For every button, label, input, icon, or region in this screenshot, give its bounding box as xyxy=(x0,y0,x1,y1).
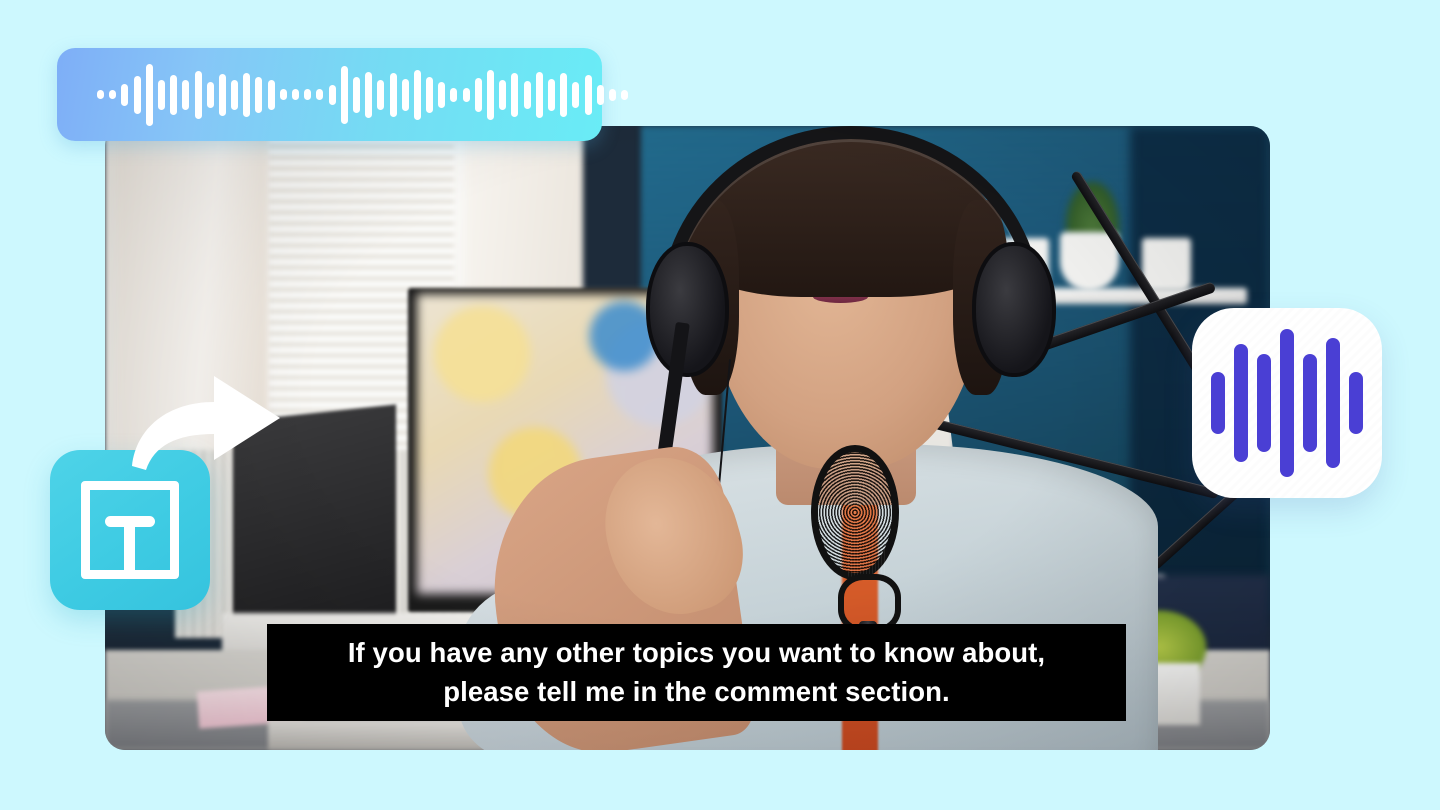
voice-wave-bar-33 xyxy=(499,80,506,110)
headphone-cup-left xyxy=(646,242,730,377)
voice-wave-bar-29 xyxy=(450,88,457,102)
voice-wave-bar-11 xyxy=(231,80,238,110)
caption-line-2: please tell me in the comment section. xyxy=(443,673,950,712)
voice-wave-bar-35 xyxy=(524,81,531,109)
voice-wave-bar-27 xyxy=(426,77,433,113)
waveform-bar-1 xyxy=(1234,344,1248,462)
voice-wave-bar-17 xyxy=(304,89,311,100)
voice-wave-bar-38 xyxy=(560,73,567,117)
voice-wave-bar-42 xyxy=(609,89,616,101)
page-frame: If you have any other topics you want to… xyxy=(0,0,1440,810)
voice-wave-bar-43 xyxy=(621,90,628,100)
voice-wave-bar-1 xyxy=(109,90,116,99)
voice-wave-bar-19 xyxy=(329,85,336,105)
voice-wave-bar-26 xyxy=(414,70,421,120)
voice-wave-bar-22 xyxy=(365,72,372,118)
voice-wave-bar-14 xyxy=(268,80,275,110)
voice-wave-bar-18 xyxy=(316,89,323,100)
waveform-bar-6 xyxy=(1349,372,1363,434)
voice-wave-bar-3 xyxy=(134,76,141,114)
mic-capsule xyxy=(848,480,887,580)
voice-wave-bar-20 xyxy=(341,66,348,124)
text-tool-badge[interactable] xyxy=(50,450,210,610)
voice-wave-bar-25 xyxy=(402,79,409,111)
curved-arrow-icon xyxy=(130,358,300,473)
voice-wave-bar-0 xyxy=(97,90,104,99)
voice-wave-bar-2 xyxy=(121,84,128,106)
voice-wave-bar-36 xyxy=(536,72,543,118)
waveform-bar-2 xyxy=(1257,354,1271,452)
voice-waveform xyxy=(97,64,628,126)
voice-wave-bar-13 xyxy=(255,77,262,113)
voice-wave-bar-21 xyxy=(353,77,360,113)
voice-wave-bar-31 xyxy=(475,78,482,112)
waveform-bar-0 xyxy=(1211,372,1225,434)
voice-wave-bar-34 xyxy=(511,73,518,117)
voice-wave-bar-41 xyxy=(597,85,604,105)
voice-wave-bar-28 xyxy=(438,82,445,108)
voice-wave-bar-4 xyxy=(146,64,153,126)
audio-waveform-badge[interactable] xyxy=(1192,308,1382,498)
voice-wave-bar-24 xyxy=(390,73,397,117)
caption-line-1: If you have any other topics you want to… xyxy=(348,634,1045,673)
voice-wave-bar-37 xyxy=(548,79,555,111)
voice-wave-bar-8 xyxy=(195,71,202,119)
voice-wave-bar-16 xyxy=(292,89,299,100)
text-icon-stem xyxy=(124,516,135,576)
voice-wave-bar-6 xyxy=(170,75,177,115)
voice-wave-bar-40 xyxy=(585,75,592,115)
voice-wave-bar-5 xyxy=(158,80,165,110)
voice-wave-bar-12 xyxy=(243,73,250,117)
waveform-bar-5 xyxy=(1326,338,1340,468)
voice-wave-bar-23 xyxy=(377,80,384,110)
voice-recognition-badge[interactable] xyxy=(57,48,602,141)
voice-wave-bar-30 xyxy=(463,88,470,102)
voice-wave-bar-10 xyxy=(219,74,226,116)
voice-wave-bar-32 xyxy=(487,70,494,120)
voice-wave-bar-9 xyxy=(207,82,214,108)
voice-wave-bar-7 xyxy=(182,80,189,110)
waveform-bar-3 xyxy=(1280,329,1294,477)
voice-wave-bar-39 xyxy=(572,82,579,108)
caption-overlay: If you have any other topics you want to… xyxy=(267,624,1126,721)
headphone-cup-right xyxy=(972,242,1056,377)
waveform-bar-4 xyxy=(1303,354,1317,452)
voice-wave-bar-15 xyxy=(280,89,287,100)
